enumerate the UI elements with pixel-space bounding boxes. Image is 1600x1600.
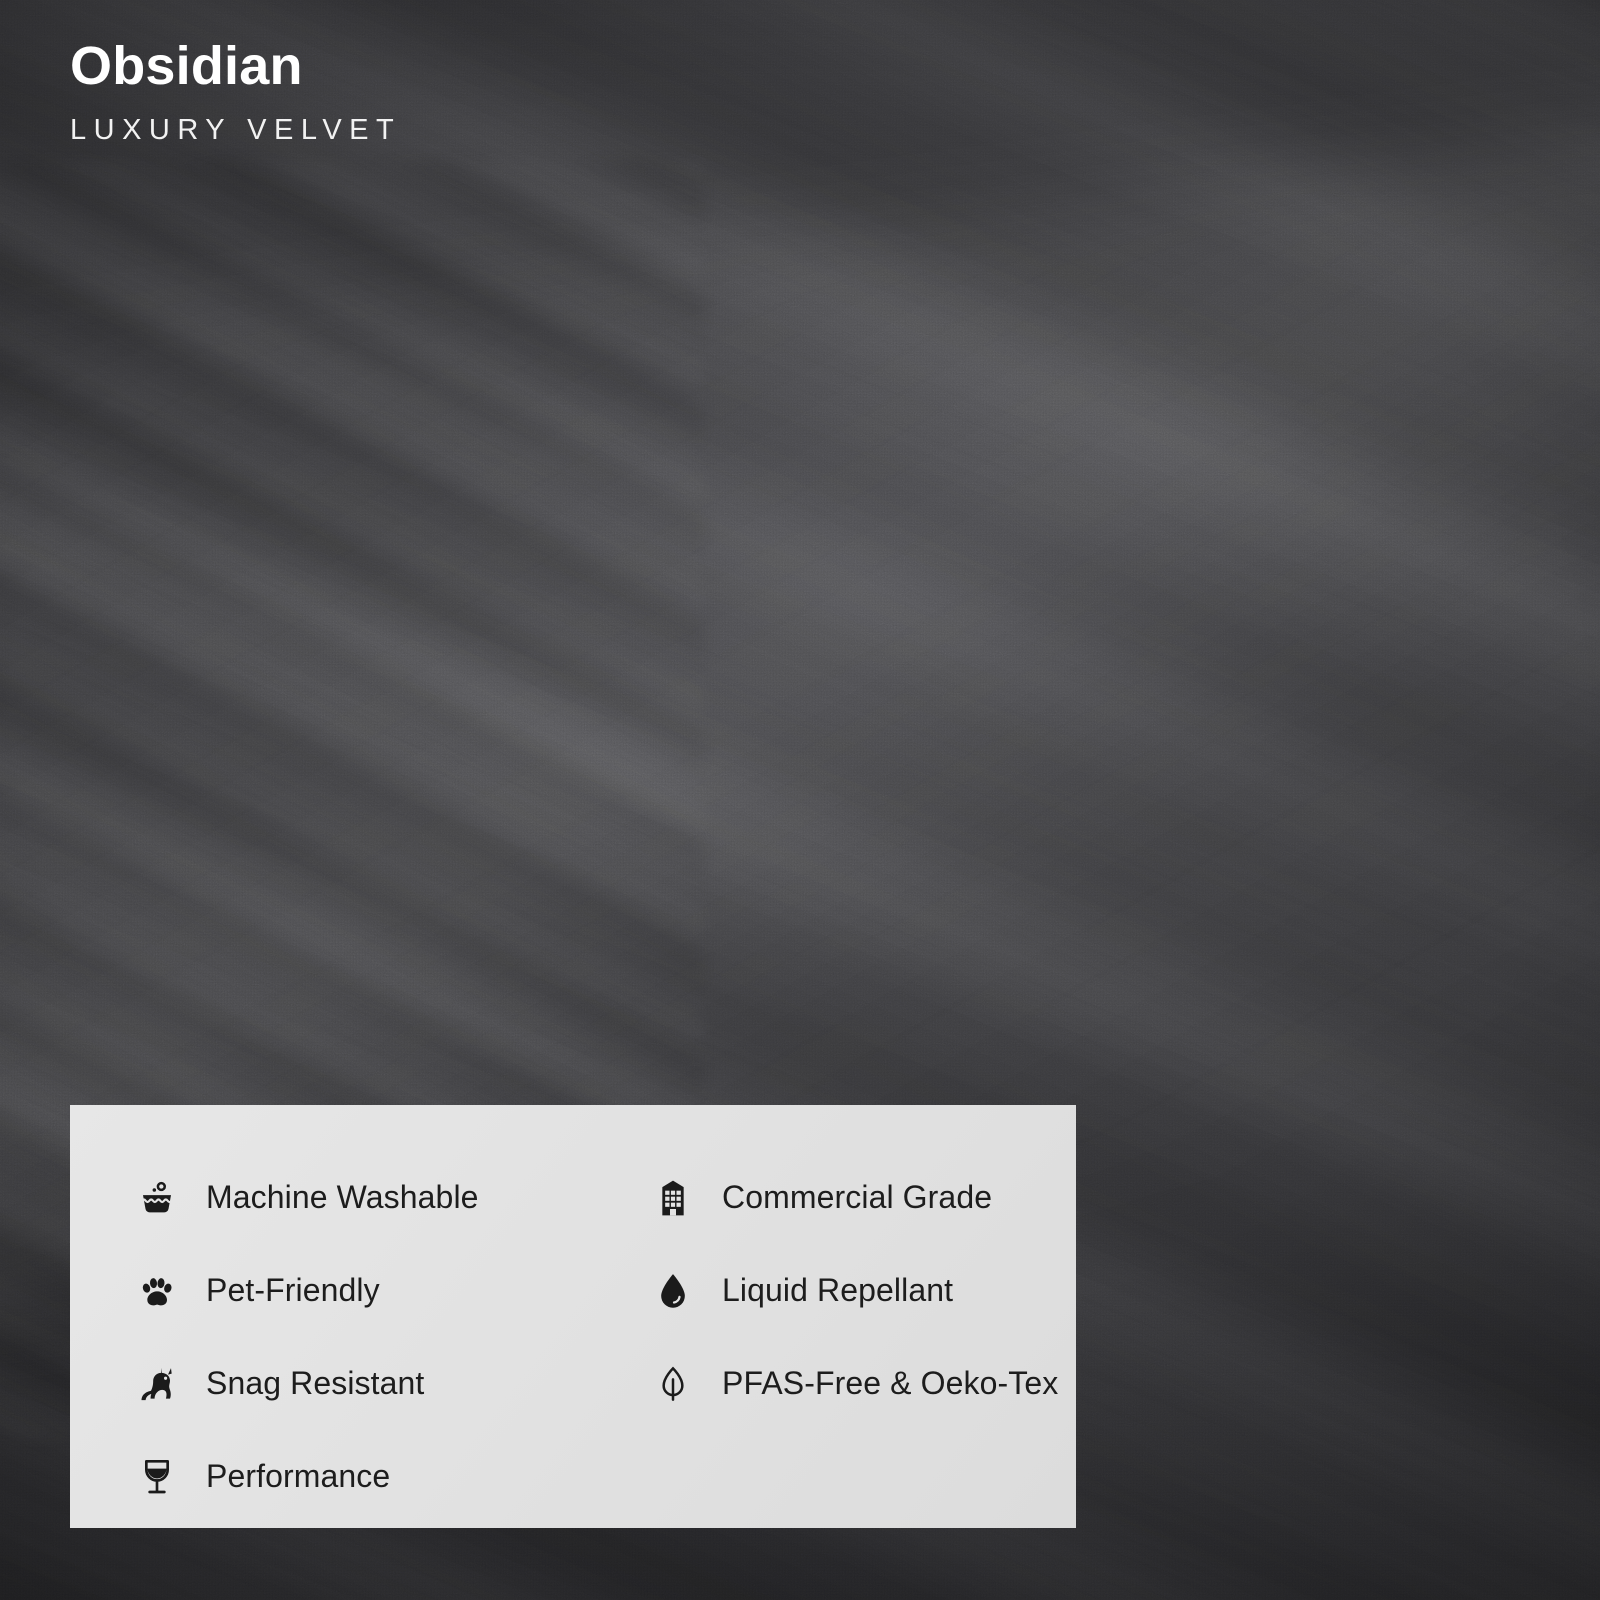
feature-label: Liquid Repellant (722, 1272, 953, 1309)
feature-item-liquid-repellant[interactable]: Liquid Repellant (588, 1244, 1076, 1337)
water-drop-icon (646, 1271, 700, 1311)
feature-label: Snag Resistant (206, 1365, 424, 1402)
feature-grid-spacer (588, 1430, 1076, 1523)
feature-label: Performance (206, 1458, 390, 1495)
feature-item-pfas-free-oeko-tex[interactable]: PFAS-Free & Oeko-Tex (588, 1337, 1076, 1430)
building-icon (646, 1178, 700, 1218)
paw-print-icon (130, 1271, 184, 1311)
feature-item-commercial-grade[interactable]: Commercial Grade (588, 1151, 1076, 1244)
swatch-header: Obsidian LUXURY VELVET (70, 38, 401, 147)
feature-item-snag-resistant[interactable]: Snag Resistant (70, 1337, 588, 1430)
feature-label: PFAS-Free & Oeko-Tex (722, 1365, 1058, 1402)
feature-item-pet-friendly[interactable]: Pet-Friendly (70, 1244, 588, 1337)
feature-panel: Machine Washable (70, 1105, 1076, 1528)
wine-glass-icon (130, 1457, 184, 1497)
fabric-swatch-card: Obsidian LUXURY VELVET Machine Washable (0, 0, 1600, 1600)
feature-grid: Machine Washable (70, 1151, 1076, 1523)
feature-item-machine-washable[interactable]: Machine Washable (70, 1151, 588, 1244)
feature-label: Commercial Grade (722, 1179, 992, 1216)
leaf-icon (646, 1364, 700, 1404)
wash-basin-icon (130, 1178, 184, 1218)
product-subtitle: LUXURY VELVET (70, 115, 401, 147)
cat-icon (130, 1364, 184, 1404)
feature-item-performance[interactable]: Performance (70, 1430, 588, 1523)
feature-label: Machine Washable (206, 1179, 479, 1216)
feature-label: Pet-Friendly (206, 1272, 380, 1309)
product-title: Obsidian (70, 38, 401, 95)
